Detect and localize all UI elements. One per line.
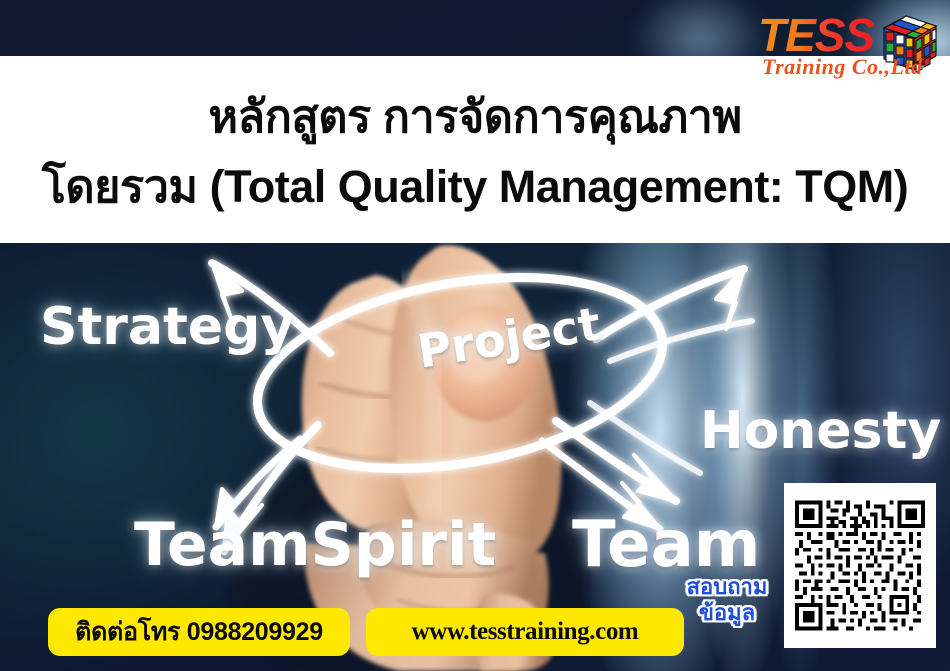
concept-word-strategy: Strategy [40, 297, 294, 357]
contact-phone-button[interactable]: ติดต่อโทร 0988209929 [48, 608, 350, 656]
brand-logo[interactable]: TESS [758, 8, 943, 96]
concept-word-teamspirit: TeamSpirit [134, 510, 496, 580]
qr-code-panel[interactable] [784, 483, 936, 648]
poster-canvas: Strategy Project Honesty TeamSpirit Team… [0, 0, 950, 671]
qr-caption-line-2: ข้อมูล [668, 600, 786, 626]
qr-caption-line-1: สอบถาม [668, 574, 786, 600]
brand-logo-tagline: Training Co.,Ltd [762, 54, 923, 80]
website-button[interactable]: www.tesstraining.com [366, 608, 684, 656]
concept-word-team: Team [572, 508, 760, 582]
concept-word-honesty: Honesty [700, 401, 941, 461]
qr-code-icon [795, 493, 925, 638]
qr-caption: สอบถาม ข้อมูล [668, 574, 786, 626]
page-title-line-2: โดยรวม (Total Quality Management: TQM) [0, 150, 950, 222]
